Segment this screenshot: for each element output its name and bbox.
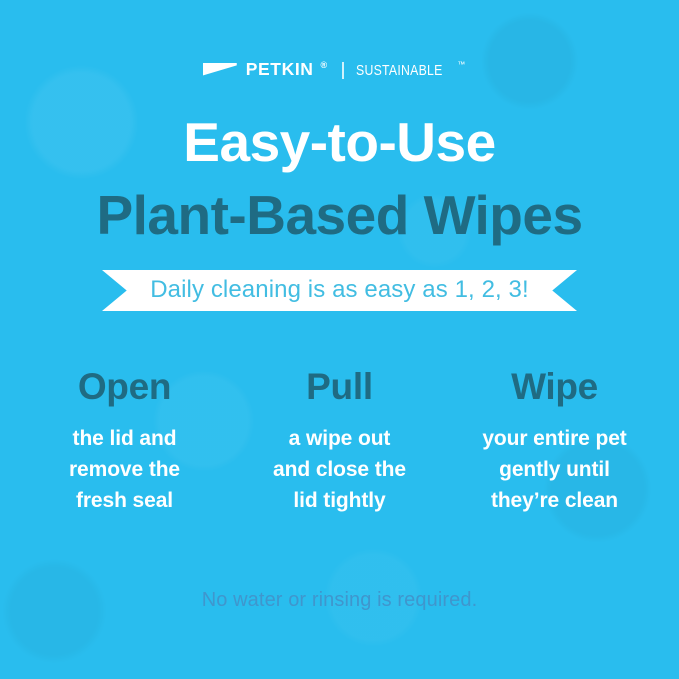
step-body-line: gently until bbox=[452, 455, 657, 486]
step-body-line: a wipe out bbox=[237, 424, 442, 455]
step-body-line: the lid and bbox=[22, 424, 227, 455]
step-pull: Pull a wipe out and close the lid tightl… bbox=[237, 368, 442, 516]
step-body-line: and close the bbox=[237, 455, 442, 486]
registered-trademark-icon: ® bbox=[321, 60, 328, 70]
brand-sub-name: SUSTAINABLE bbox=[356, 63, 443, 78]
step-title: Pull bbox=[237, 368, 442, 407]
headline-line-1: Easy-to-Use bbox=[0, 113, 679, 172]
step-body-line: fresh seal bbox=[22, 486, 227, 517]
footer-note: No water or rinsing is required. bbox=[0, 588, 679, 612]
step-body: your entire pet gently until they’re cle… bbox=[452, 424, 657, 517]
step-body: a wipe out and close the lid tightly bbox=[237, 424, 442, 517]
ribbon-banner: Daily cleaning is as easy as 1, 2, 3! bbox=[102, 270, 577, 311]
step-title: Open bbox=[22, 368, 227, 407]
brand-lockup: PETKIN ® SUSTAINABLE ™ bbox=[0, 59, 679, 81]
steps-row: Open the lid and remove the fresh seal P… bbox=[22, 368, 657, 516]
step-title: Wipe bbox=[452, 368, 657, 407]
step-body: the lid and remove the fresh seal bbox=[22, 424, 227, 517]
step-body-line: lid tightly bbox=[237, 486, 442, 517]
brand-divider bbox=[342, 62, 344, 79]
product-instruction-poster: PETKIN ® SUSTAINABLE ™ Easy-to-Use Plant… bbox=[0, 0, 679, 679]
trademark-icon: ™ bbox=[457, 60, 465, 69]
step-body-line: remove the bbox=[22, 455, 227, 486]
swoosh-icon bbox=[203, 63, 237, 76]
headline-line-2: Plant-Based Wipes bbox=[0, 186, 679, 245]
ribbon-text: Daily cleaning is as easy as 1, 2, 3! bbox=[150, 278, 529, 302]
brand-name: PETKIN bbox=[246, 61, 314, 79]
step-body-line: they’re clean bbox=[452, 486, 657, 517]
step-open: Open the lid and remove the fresh seal bbox=[22, 368, 227, 516]
step-wipe: Wipe your entire pet gently until they’r… bbox=[452, 368, 657, 516]
step-body-line: your entire pet bbox=[452, 424, 657, 455]
